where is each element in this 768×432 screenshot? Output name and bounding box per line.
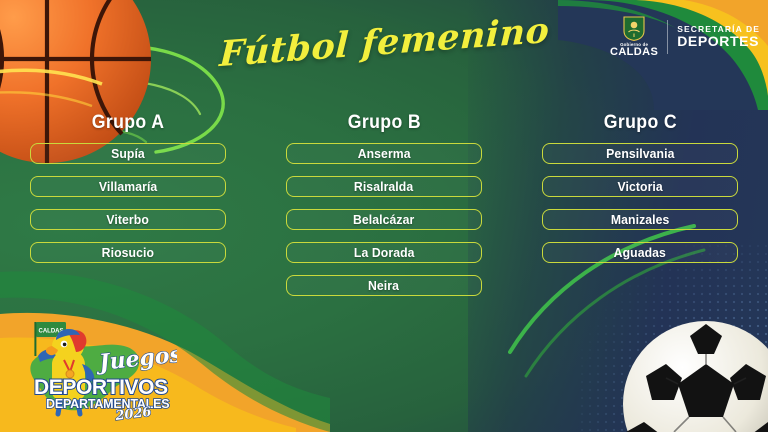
groups-container: Grupo A Supía Villamaría Viterbo Riosuci… <box>0 112 768 308</box>
group-column-c: Grupo C Pensilvania Victoria Manizales A… <box>512 112 768 308</box>
team-label: Viterbo <box>107 212 150 227</box>
event-logo: CALDAS <box>12 316 177 424</box>
team-chip[interactable]: Neira <box>286 275 482 296</box>
team-label: Villamaría <box>99 179 157 194</box>
team-chip[interactable]: Victoria <box>542 176 738 197</box>
team-label: Pensilvania <box>606 146 674 161</box>
team-label: Belalcázar <box>353 212 414 227</box>
caldas-brand: Gobierno de CALDAS <box>610 16 658 58</box>
team-label: Manizales <box>611 212 670 227</box>
team-label: Risalralda <box>354 179 413 194</box>
team-label: Aguadas <box>614 245 666 260</box>
team-label: La Dorada <box>354 245 415 260</box>
poster-canvas: Gobierno de CALDAS SECRETARÍA DE DEPORTE… <box>0 0 768 432</box>
team-chip[interactable]: Villamaría <box>30 176 226 197</box>
team-chip[interactable]: Pensilvania <box>542 143 738 164</box>
event-logo-line2: DEPORTIVOS <box>34 376 168 399</box>
team-chip[interactable]: Riosucio <box>30 242 226 263</box>
team-label: Neira <box>368 278 399 293</box>
team-label: Anserma <box>358 146 411 161</box>
team-label: Riosucio <box>102 245 154 260</box>
team-chip[interactable]: Anserma <box>286 143 482 164</box>
group-title: Grupo C <box>603 112 676 134</box>
group-title: Grupo A <box>92 112 165 134</box>
event-logo-year: 2026 <box>114 405 153 424</box>
team-chip[interactable]: Risalralda <box>286 176 482 197</box>
soccer-ball-icon <box>622 320 768 432</box>
group-title: Grupo B <box>347 112 420 134</box>
team-chip[interactable]: Manizales <box>542 209 738 230</box>
group-column-a: Grupo A Supía Villamaría Viterbo Riosuci… <box>0 112 256 308</box>
team-chip[interactable]: Belalcázar <box>286 209 482 230</box>
government-logo: Gobierno de CALDAS SECRETARÍA DE DEPORTE… <box>610 16 760 58</box>
caldas-coat-of-arms-icon <box>623 16 645 41</box>
team-chip[interactable]: Viterbo <box>30 209 226 230</box>
secretariat-bottom-label: DEPORTES <box>677 34 760 49</box>
team-chip[interactable]: La Dorada <box>286 242 482 263</box>
team-label: Victoria <box>617 179 662 194</box>
secretariat-brand: SECRETARÍA DE DEPORTES <box>677 25 760 49</box>
team-chip[interactable]: Aguadas <box>542 242 738 263</box>
logo-divider <box>667 20 668 54</box>
team-chip[interactable]: Supía <box>30 143 226 164</box>
gov-name-label: CALDAS <box>610 47 658 58</box>
team-label: Supía <box>111 146 145 161</box>
group-column-b: Grupo B Anserma Risalralda Belalcázar La… <box>256 112 512 308</box>
